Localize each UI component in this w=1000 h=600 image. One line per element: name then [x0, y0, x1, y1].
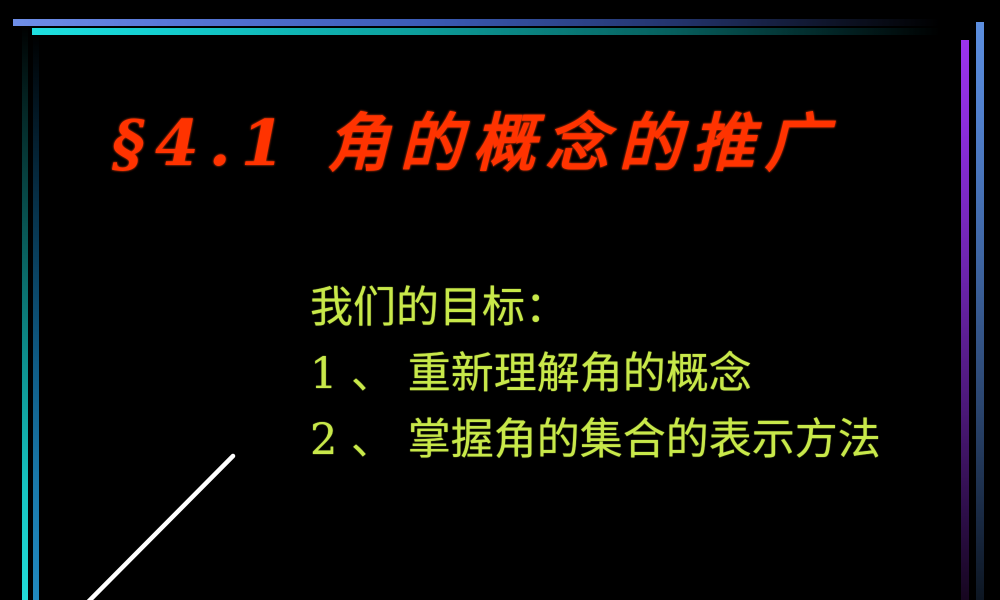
goal-item-1: 1 、 重新理解角的概念	[310, 350, 950, 398]
slide-canvas: §4.1 角的概念的推广 我们的目标： 1 、 重新理解角的概念 2 、 掌握角…	[0, 0, 1000, 600]
left-cyan-rule	[22, 26, 28, 600]
goals-heading: 我们的目标：	[310, 284, 950, 332]
slide-title: §4.1 角的概念的推广	[112, 112, 932, 175]
goal-item-2: 2 、 掌握角的集合的表示方法	[310, 416, 910, 464]
goals-block: 我们的目标： 1 、 重新理解角的概念 2 、 掌握角的集合的表示方法	[310, 284, 950, 482]
left-blue-rule	[33, 35, 39, 600]
right-purple-rule	[961, 40, 969, 600]
right-blue-rule	[976, 22, 984, 600]
top-cyan-rule	[32, 28, 940, 35]
top-blue-rule	[13, 19, 940, 26]
